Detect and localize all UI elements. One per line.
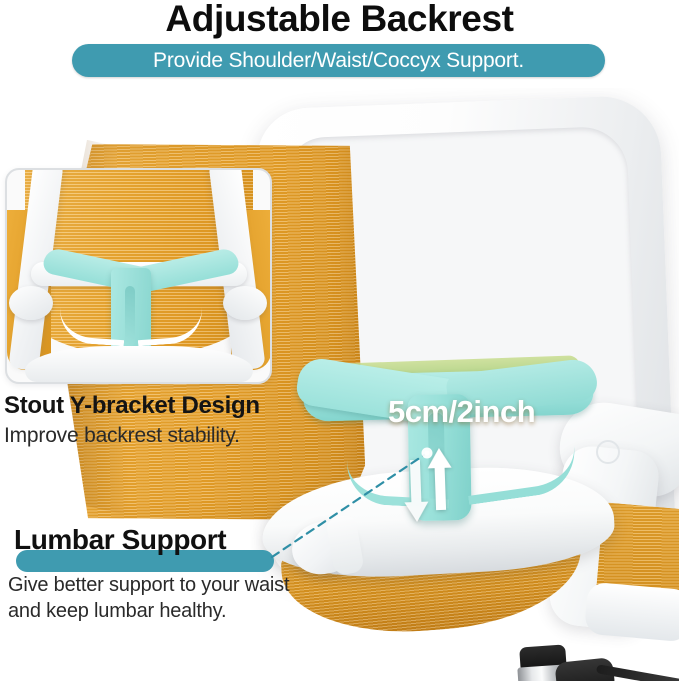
lumbar-caption-title: Lumbar Support xyxy=(14,524,226,556)
adjust-range-label: 5cm/2inch xyxy=(388,394,535,430)
subtitle-banner: Provide Shoulder/Waist/Coccyx Support. xyxy=(72,44,605,77)
page-title: Adjustable Backrest xyxy=(0,0,679,40)
seat-edge xyxy=(584,582,679,643)
lumbar-y-bracket xyxy=(295,348,604,543)
closeup-left-knob xyxy=(9,286,53,320)
closeup-right-knob xyxy=(223,286,267,320)
ybracket-caption-title: Stout Y-bracket Design xyxy=(4,392,260,420)
infographic-canvas: Adjustable Backrest Provide Shoulder/Wai… xyxy=(0,0,679,681)
lumbar-caption-block: Lumbar Support xyxy=(14,524,226,556)
y-bracket-right-leg xyxy=(463,445,580,505)
lumbar-caption-subtitle: Give better support to your waist and ke… xyxy=(8,572,308,624)
closeup-base-rail xyxy=(25,346,253,382)
arrow-down-icon xyxy=(403,460,429,523)
subtitle-text: Provide Shoulder/Waist/Coccyx Support. xyxy=(153,49,524,73)
closeup-y-stem-groove xyxy=(125,286,135,346)
arrow-up-icon xyxy=(427,448,453,511)
y-bracket-closeup-panel xyxy=(5,168,272,384)
ybracket-caption-subtitle: Improve backrest stability. xyxy=(4,424,240,448)
